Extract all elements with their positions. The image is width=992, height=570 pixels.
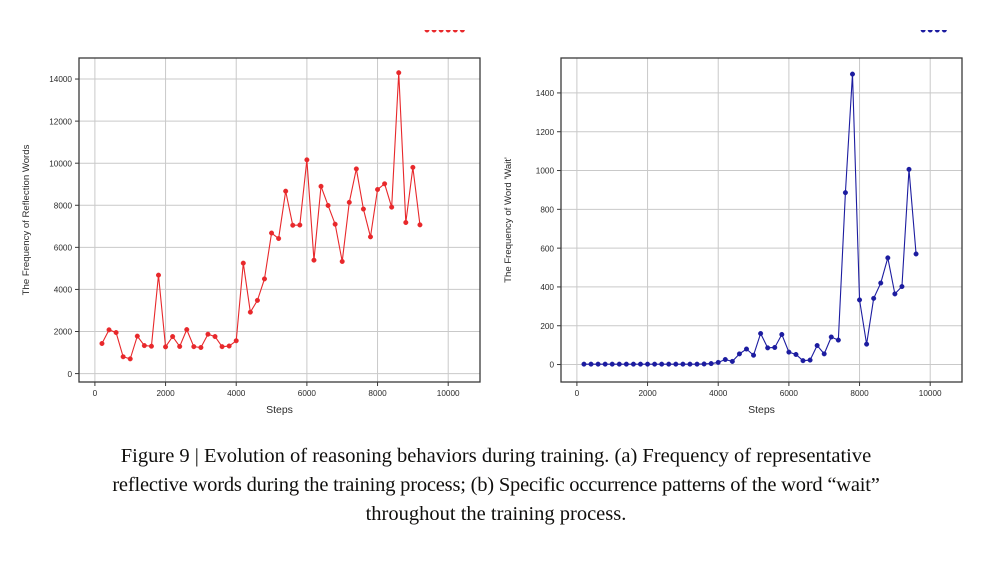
data-point [135,334,140,339]
y-tick-label: 4000 [54,286,73,295]
data-point [220,344,225,349]
y-axis-label: The Frequency of Word 'Wait' [503,157,514,283]
data-point [177,344,182,349]
data-point [206,332,211,337]
data-point [801,358,806,363]
data-point [312,258,317,263]
data-point [857,298,862,303]
x-tick-label: 4000 [709,389,728,398]
data-point [744,347,749,352]
y-tick-label: 10000 [49,159,72,168]
data-point [815,343,820,348]
data-point [326,203,331,208]
data-point [808,358,813,363]
caption-line-1: Figure 9 | Evolution of reasoning behavi… [14,442,978,471]
data-point [276,236,281,241]
data-point [624,362,629,367]
y-tick-label: 200 [540,322,554,331]
data-point [192,344,197,349]
wait-word-line-chart: 0200400600800100012001400020004000600080… [496,30,976,430]
x-axis-label: Steps [266,404,293,416]
data-point [241,261,246,266]
data-point [425,30,430,32]
data-point [737,352,742,357]
data-point [382,182,387,187]
figure-container: 0200040006000800010000120001400002000400… [0,0,992,570]
data-point [107,328,112,333]
data-point [184,327,189,332]
data-point [751,353,756,358]
data-point [446,30,451,32]
x-tick-label: 6000 [298,389,317,398]
data-point [652,362,657,367]
y-tick-label: 0 [67,370,72,379]
data-point [935,30,940,32]
y-tick-label: 12000 [49,117,72,126]
y-tick-label: 400 [540,283,554,292]
data-point [836,338,841,343]
data-point [780,332,785,337]
data-point [213,334,218,339]
data-point [596,362,601,367]
data-point [170,334,175,339]
y-tick-label: 0 [549,361,554,370]
data-point [234,338,239,343]
data-point [248,310,253,315]
data-point [645,362,650,367]
data-point [893,292,898,297]
data-point [114,330,119,335]
data-point [418,223,423,228]
chart-panel-a: 0200040006000800010000120001400002000400… [14,30,494,430]
data-point [432,30,437,32]
data-point [396,70,401,75]
x-tick-label: 10000 [437,389,460,398]
data-point [262,277,267,282]
data-point [368,235,373,240]
x-tick-label: 0 [93,389,98,398]
data-point [765,346,770,351]
data-point [121,354,126,359]
y-tick-label: 1400 [536,89,555,98]
data-point [921,30,926,32]
data-point [723,357,728,362]
y-tick-label: 14000 [49,75,72,84]
data-point [871,296,876,301]
y-tick-label: 2000 [54,328,73,337]
data-point [850,72,855,77]
data-point [631,362,636,367]
data-point [290,223,295,228]
figure-caption: Figure 9 | Evolution of reasoning behavi… [14,442,978,529]
data-point [730,359,735,364]
y-tick-label: 1200 [536,128,555,137]
data-point [128,357,133,362]
data-point [709,361,714,366]
data-point [610,362,615,367]
data-point [298,223,303,228]
data-point [100,341,105,346]
y-axis-label: The Frequency of Reflection Words [21,144,32,295]
data-point [319,184,324,189]
data-point [603,362,608,367]
x-axis-label: Steps [748,404,775,416]
y-tick-label: 8000 [54,201,73,210]
x-tick-label: 2000 [638,389,657,398]
data-point [674,362,679,367]
data-point [822,352,827,357]
data-point [900,284,905,289]
data-point [928,30,933,32]
data-point [702,362,707,367]
x-tick-label: 8000 [368,389,387,398]
data-point [347,200,352,205]
data-point [411,165,416,170]
data-point [695,362,700,367]
data-point [460,30,465,32]
x-tick-label: 2000 [156,389,175,398]
data-point [914,252,919,257]
data-point [283,189,288,194]
data-point [340,259,345,264]
data-point [199,345,204,350]
data-point [681,362,686,367]
data-point [389,205,394,210]
y-tick-label: 600 [540,244,554,253]
data-point [163,345,168,350]
caption-line-2: reflective words during the training pro… [14,471,978,500]
data-point [688,362,693,367]
x-tick-label: 6000 [780,389,799,398]
data-point [659,362,664,367]
data-point [404,220,409,225]
data-point [582,362,587,367]
data-point [772,345,777,350]
data-point [156,273,161,278]
x-tick-label: 10000 [919,389,942,398]
data-point [638,362,643,367]
x-tick-label: 0 [575,389,580,398]
data-point [843,190,848,195]
y-tick-label: 1000 [536,167,555,176]
data-point [142,343,147,348]
data-point [589,362,594,367]
data-point [716,360,721,365]
data-point [361,207,366,212]
reflection-words-line-chart: 0200040006000800010000120001400002000400… [14,30,494,430]
data-point [149,344,154,349]
caption-line-3: throughout the training process. [14,500,978,529]
data-point [886,256,891,261]
data-point [354,167,359,172]
data-point [617,362,622,367]
y-tick-label: 800 [540,206,554,215]
data-point [878,281,883,286]
x-tick-label: 4000 [227,389,246,398]
chart-panel-b: 0200400600800100012001400020004000600080… [496,30,976,430]
data-point [829,335,834,340]
data-point [255,298,260,303]
data-point [439,30,444,32]
data-point [305,158,310,163]
data-point [227,344,232,349]
data-point [942,30,947,32]
y-tick-label: 6000 [54,244,73,253]
data-point [375,187,380,192]
data-point [269,231,274,236]
data-point [666,362,671,367]
data-point [453,30,458,32]
data-point [864,342,869,347]
data-point [333,222,338,227]
data-point [758,331,763,336]
data-point [794,352,799,357]
x-tick-label: 8000 [850,389,869,398]
data-point [907,167,912,172]
data-point [787,350,792,355]
